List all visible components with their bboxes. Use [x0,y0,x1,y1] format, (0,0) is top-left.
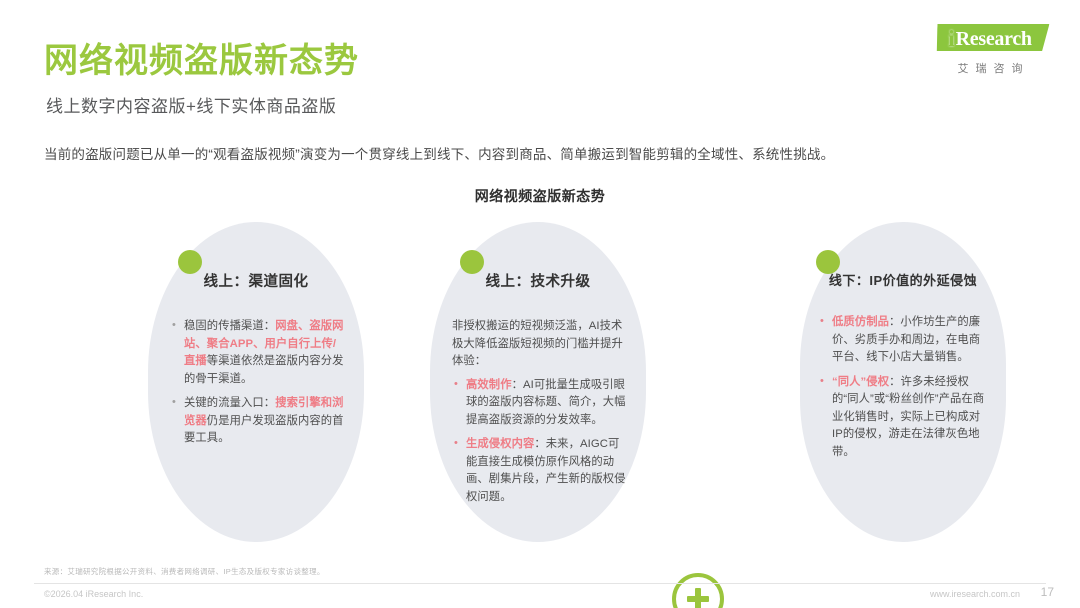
card-body: 非授权搬运的短视频泛滥，AI技术极大降低盗版短视频的门槛并提升体验： 高效制作：… [452,318,626,513]
bullet-text-after: 仍是用户发现盗版内容的首要工具。 [184,415,344,445]
card-offline-ip: 线下：IP价值的外延侵蚀 低质仿制品：小作坊生产的廉价、劣质手办和周边，在电商平… [800,222,1006,542]
iresearch-logo: i Research 艾瑞咨询 [926,22,1054,76]
bullet-text-after: 等渠道依然是盗版内容分发的骨干渠道。 [184,355,344,385]
website-url: www.iresearch.com.cn [930,589,1020,599]
cards-board: 线上：渠道固化 稳固的传播渠道：网盘、盗版网站、聚合APP、用户自行上传/直播等… [0,210,1080,550]
page-title: 网络视频盗版新态势 [44,33,359,82]
card-heading: 线上：技术升级 [430,270,646,291]
logo-mark: i Research [926,22,1054,56]
card-heading: 线下：IP价值的外延侵蚀 [800,270,1006,289]
list-item: 关键的流量入口：搜索引擎和浏览器仍是用户发现盗版内容的首要工具。 [170,395,344,448]
copyright-text: ©2026.04 iResearch Inc. [44,589,143,599]
plus-circle-icon [672,573,724,608]
slide: i Research 艾瑞咨询 网络视频盗版新态势 线上数字内容盗版+线下实体商… [0,0,1080,608]
list-item: 高效制作：AI可批量生成吸引眼球的盗版内容标题、简介，大幅提高盗版资源的分发效率… [452,377,626,430]
bullet-text-before: 稳固的传播渠道： [184,320,275,332]
bullet-text-before: 关键的流量入口： [184,397,275,409]
logo-wordmark: Research [956,28,1032,51]
chart-title: 网络视频盗版新态势 [0,186,1080,206]
list-item: 稳固的传播渠道：网盘、盗版网站、聚合APP、用户自行上传/直播等渠道依然是盗版内… [170,318,344,388]
bullet-highlight: “同人”侵权 [832,376,889,388]
page-subtitle: 线上数字内容盗版+线下实体商品盗版 [46,92,336,117]
list-item: “同人”侵权：许多未经授权的“同人”或“粉丝创作”产品在商业化销售时，实际上已构… [818,374,990,462]
list-item: 生成侵权内容：未来，AIGC可能直接生成模仿原作风格的动画、剧集片段，产生新的版… [452,436,626,506]
page-number: 17 [1041,585,1054,599]
logo-i-letter: i [948,26,954,52]
card-online-channel: 线上：渠道固化 稳固的传播渠道：网盘、盗版网站、聚合APP、用户自行上传/直播等… [148,222,364,542]
footer-divider [34,583,1046,584]
bullet-highlight: 低质仿制品 [832,316,889,328]
intro-paragraph: 当前的盗版问题已从单一的“观看盗版视频”演变为一个贯穿线上到线下、内容到商品、简… [44,145,1046,165]
list-item: 低质仿制品：小作坊生产的廉价、劣质手办和周边，在电商平台、线下小店大量销售。 [818,314,990,367]
card-body: 低质仿制品：小作坊生产的廉价、劣质手办和周边，在电商平台、线下小店大量销售。 “… [818,314,990,468]
card-lead-text: 非授权搬运的短视频泛滥，AI技术极大降低盗版短视频的门槛并提升体验： [452,318,626,371]
bullet-highlight: 生成侵权内容 [466,438,534,450]
bullet-highlight: 高效制作 [466,379,512,391]
source-note: 来源：艾瑞研究院根据公开资料、消费者网络调研、IP生态及版权专家访谈整理。 [44,566,325,577]
card-body: 稳固的传播渠道：网盘、盗版网站、聚合APP、用户自行上传/直播等渠道依然是盗版内… [170,318,344,455]
card-heading: 线上：渠道固化 [148,270,364,291]
card-online-tech: 线上：技术升级 非授权搬运的短视频泛滥，AI技术极大降低盗版短视频的门槛并提升体… [430,222,646,542]
logo-chinese-name: 艾瑞咨询 [926,60,1054,76]
